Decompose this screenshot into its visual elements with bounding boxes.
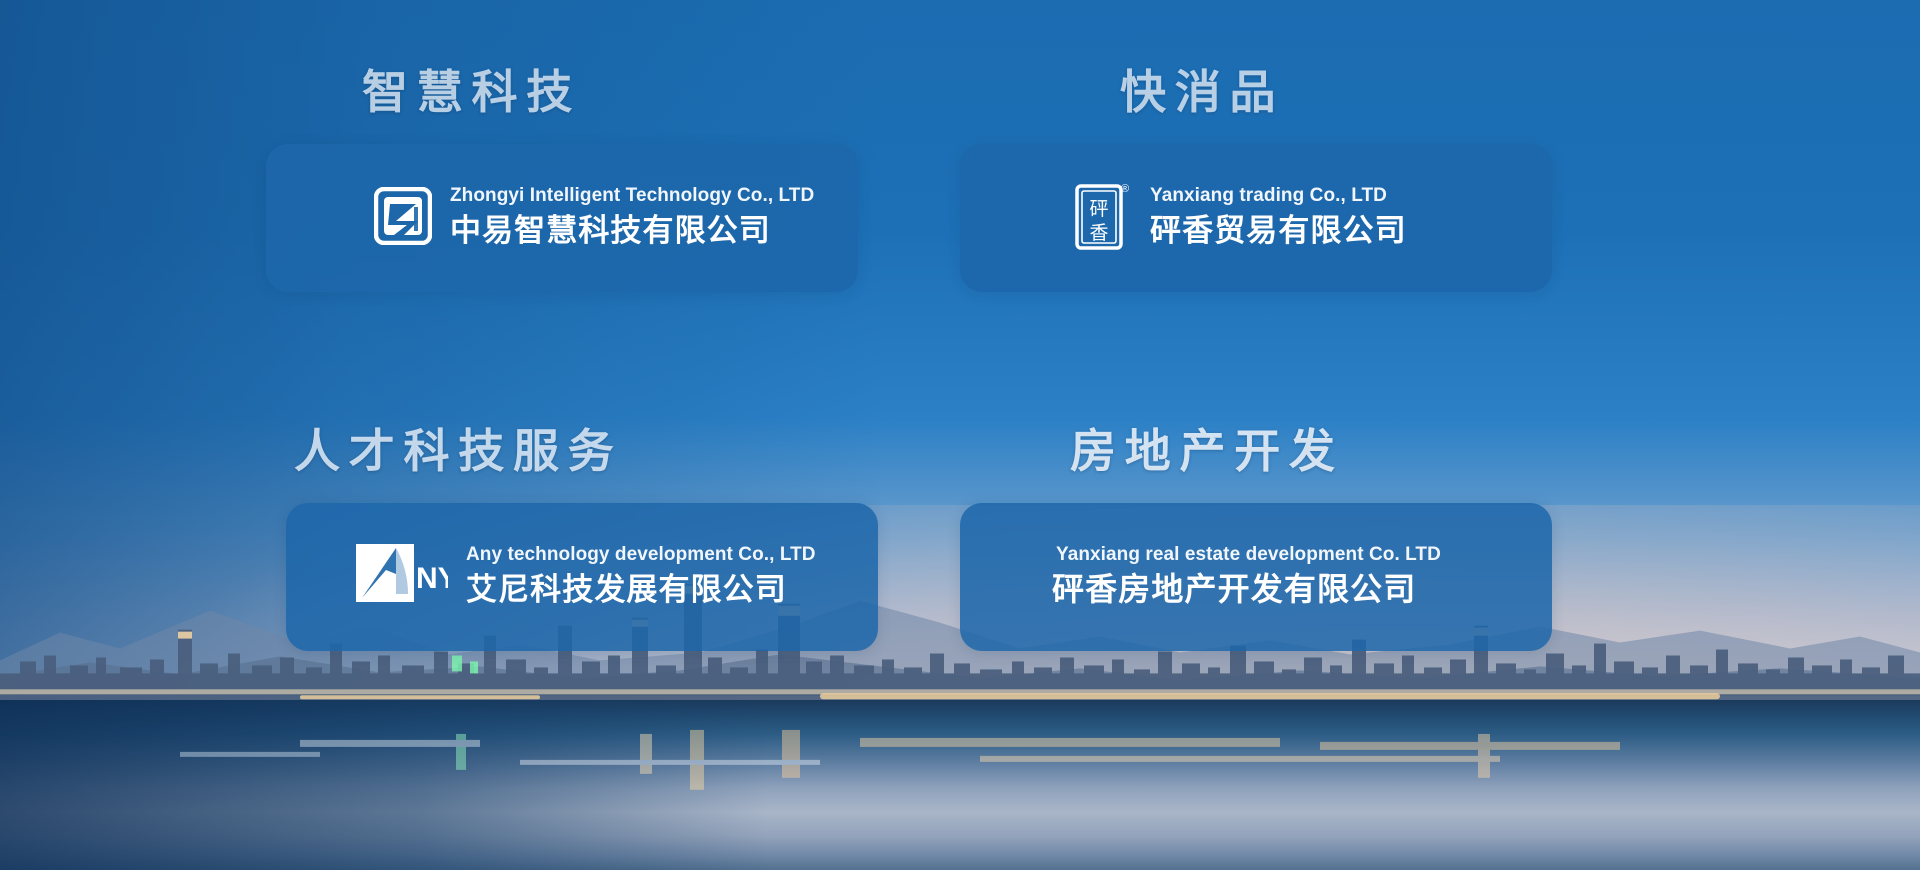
company-name-cn: 艾尼科技发展有限公司 <box>466 569 816 611</box>
sector-heading: 智慧科技 <box>232 56 960 122</box>
company-name-en: Yanxiang trading Co., LTD <box>1150 184 1407 208</box>
company-card[interactable]: Yanxiang real estate development Co. LTD… <box>960 503 1552 651</box>
company-name-cn: 砰香贸易有限公司 <box>1150 210 1407 252</box>
sector-block-real-estate: 房地产开发 Yanxiang real estate development C… <box>960 415 1688 774</box>
company-name-en: Any technology development Co., LTD <box>466 543 816 567</box>
company-name-en: Zhongyi Intelligent Technology Co., LTD <box>450 184 814 208</box>
sector-block-talent-tech-services: 人才科技服务 NY Any technology development Co.… <box>232 415 960 774</box>
company-card[interactable]: Zhongyi Intelligent Technology Co., LTD … <box>266 144 858 292</box>
seal-char-top: 砰 <box>1089 198 1108 220</box>
any-mountain-logo-icon: NY <box>356 544 448 611</box>
yanxiang-seal-logo-icon: 砰 香 ® <box>1074 180 1132 257</box>
any-logo-text: NY <box>416 562 448 595</box>
trademark-symbol: ® <box>1121 183 1129 195</box>
seal-char-bottom: 香 <box>1089 222 1108 244</box>
company-name-en: Yanxiang real estate development Co. LTD <box>1052 543 1441 567</box>
zhongyi-z-logo-icon <box>374 187 432 250</box>
company-card[interactable]: NY Any technology development Co., LTD 艾… <box>286 503 878 651</box>
sector-block-fmcg: 快消品 砰 香 ® Yanxiang trading Co., LTD 砰香贸易… <box>960 56 1688 415</box>
sector-heading: 快消品 <box>960 56 1688 122</box>
sectors-grid: 智慧科技 Zhongyi Intelligent Technology Co.,… <box>0 0 1920 870</box>
sector-block-smart-technology: 智慧科技 Zhongyi Intelligent Technology Co.,… <box>232 56 960 415</box>
company-name-cn: 中易智慧科技有限公司 <box>450 210 814 252</box>
sector-heading: 房地产开发 <box>960 415 1688 481</box>
company-name-cn: 砰香房地产开发有限公司 <box>1052 568 1441 611</box>
sector-heading: 人才科技服务 <box>232 415 960 481</box>
company-card[interactable]: 砰 香 ® Yanxiang trading Co., LTD 砰香贸易有限公司 <box>960 144 1552 292</box>
